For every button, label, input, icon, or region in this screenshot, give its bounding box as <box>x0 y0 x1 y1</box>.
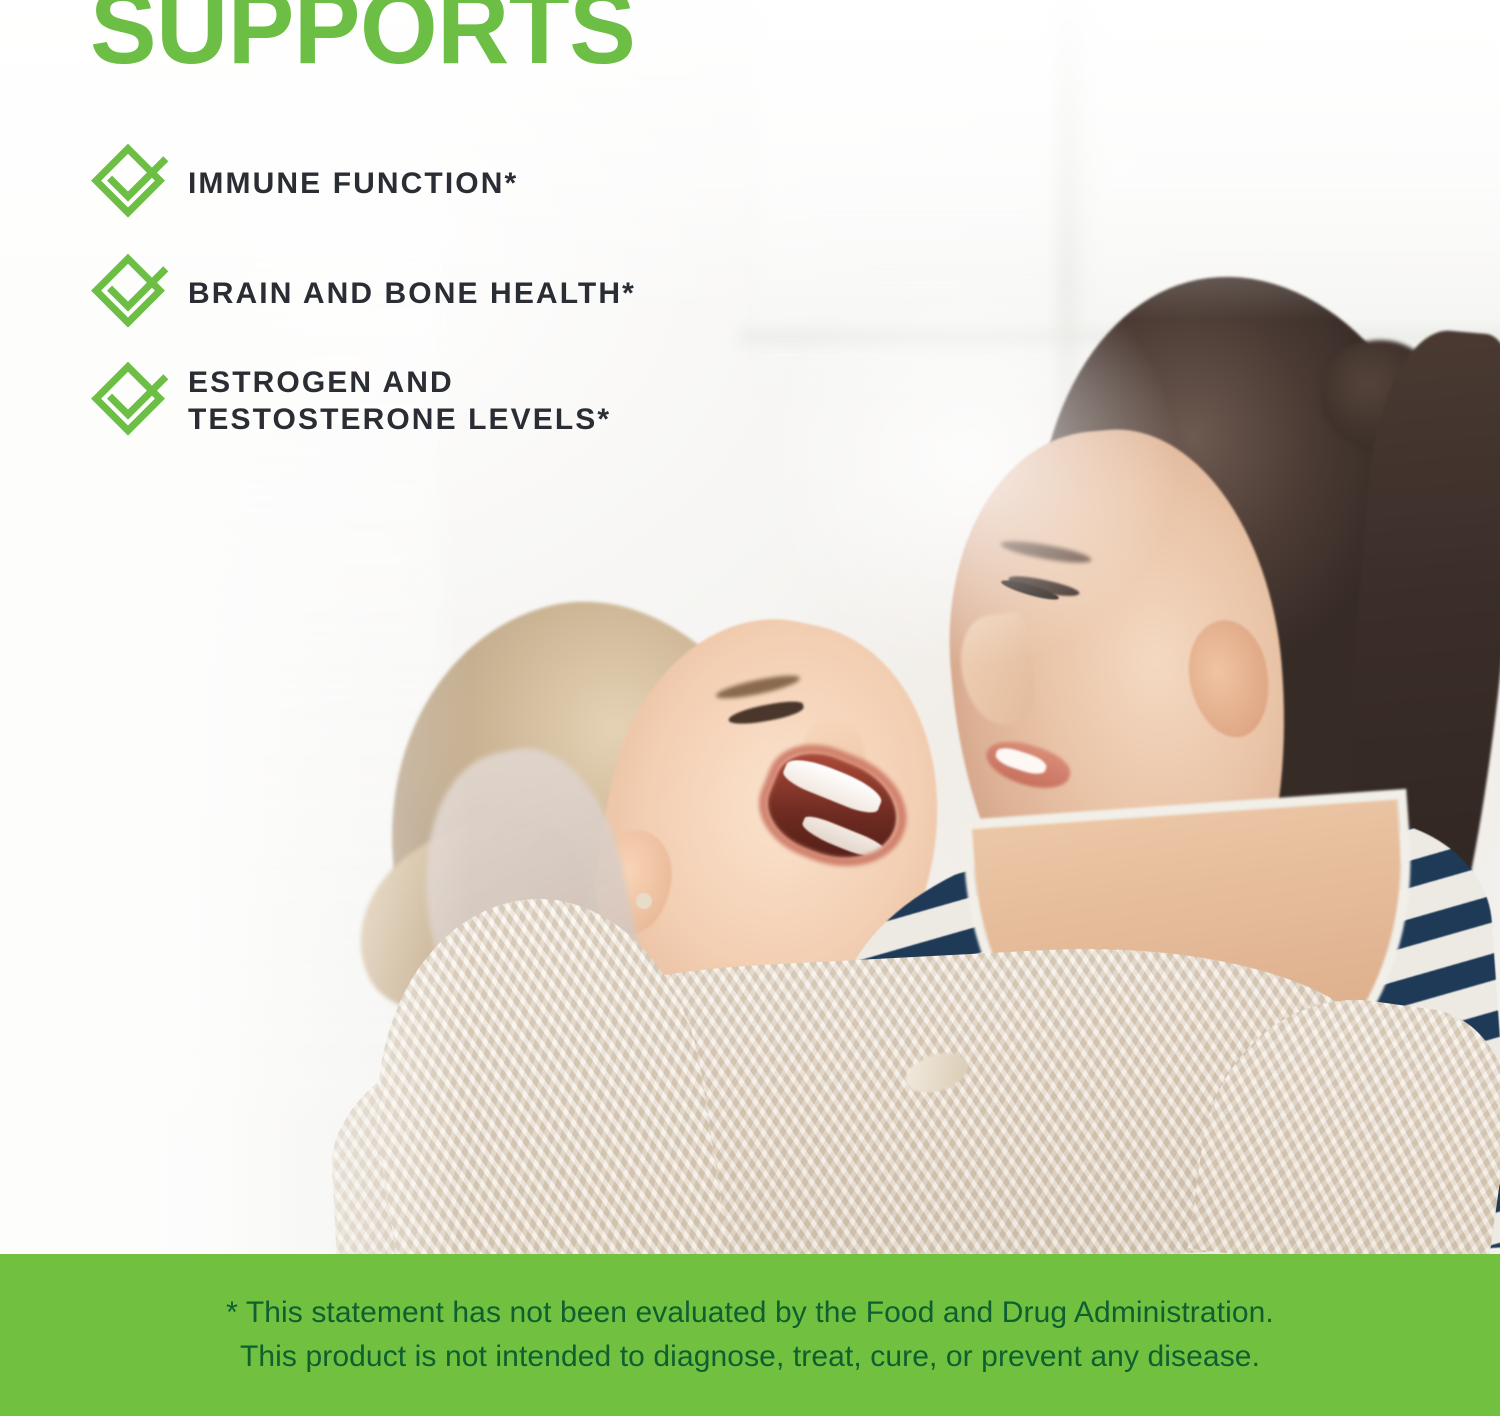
check-diamond-icon <box>86 360 170 444</box>
fda-disclaimer-bar: * This statement has not been evaluated … <box>0 1254 1500 1416</box>
benefit-label: ESTROGEN AND TESTOSTERONE LEVELS* <box>188 365 611 438</box>
girl-earring <box>636 893 652 909</box>
check-diamond-icon <box>86 142 170 226</box>
benefit-label: BRAIN AND BONE HEALTH* <box>188 276 636 313</box>
benefit-item-brain-and-bone-health: BRAIN AND BONE HEALTH* <box>86 252 926 336</box>
page-title: SUPPORTS <box>90 0 635 80</box>
disclaimer-line-2: This product is not intended to diagnose… <box>240 1335 1260 1379</box>
disclaimer-line-1: * This statement has not been evaluated … <box>226 1291 1274 1335</box>
benefits-list: IMMUNE FUNCTION* BRAIN AND BONE HEALTH* <box>86 142 926 470</box>
benefit-label: IMMUNE FUNCTION* <box>188 166 518 203</box>
benefit-item-estrogen-and-testosterone-levels: ESTROGEN AND TESTOSTERONE LEVELS* <box>86 360 926 444</box>
product-feature-panel: SUPPORTS IMMUNE FUNCTION* <box>0 0 1500 1416</box>
benefit-item-immune-function: IMMUNE FUNCTION* <box>86 142 926 226</box>
check-diamond-icon <box>86 252 170 336</box>
